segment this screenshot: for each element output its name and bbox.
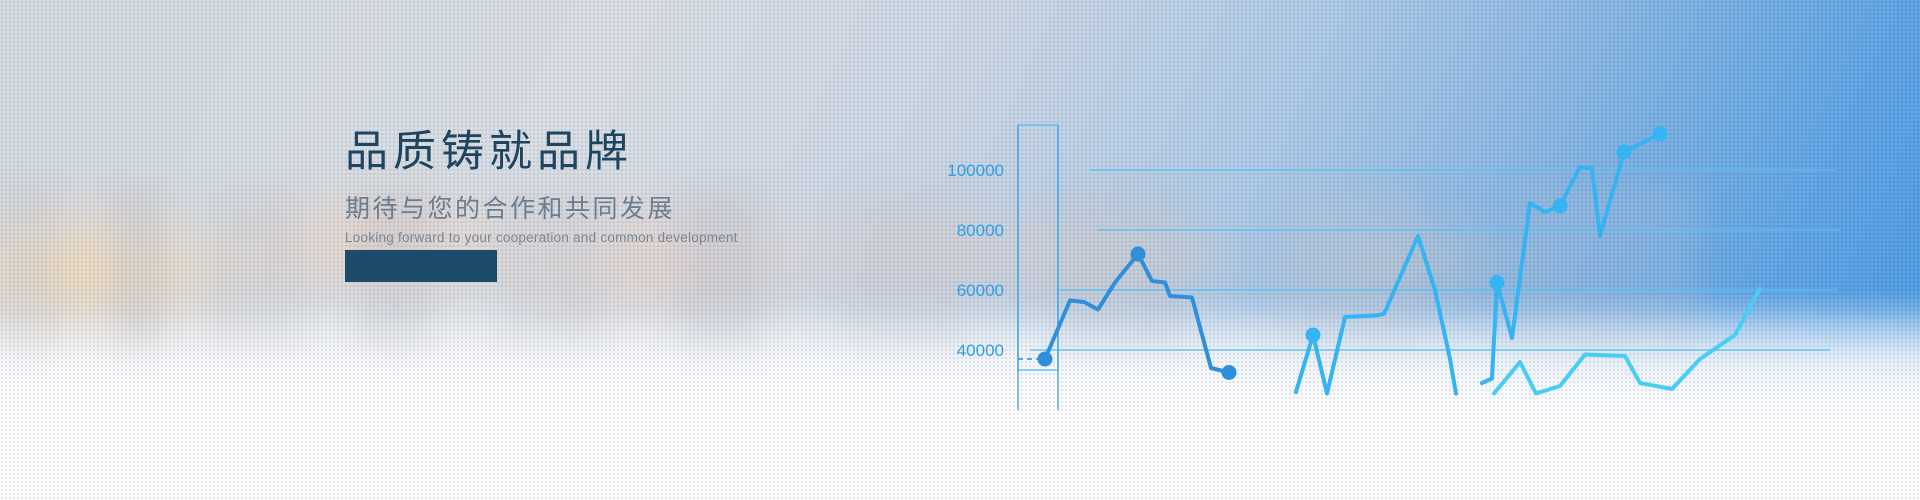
- page-tagline: Looking forward to your cooperation and …: [345, 230, 865, 247]
- page-title: 品质铸就品牌: [345, 128, 865, 176]
- chart-series: [1045, 134, 1760, 394]
- svg-text:40000: 40000: [957, 341, 1004, 360]
- line-chart: 100000800006000040000: [0, 0, 1920, 500]
- svg-text:80000: 80000: [957, 221, 1004, 240]
- chart-axis: [1018, 125, 1058, 410]
- cta-button[interactable]: [345, 250, 497, 282]
- chart-gridlines: [1030, 170, 1840, 350]
- hero-copy: 品质铸就品牌 期待与您的合作和共同发展 Looking forward to y…: [345, 128, 865, 247]
- svg-text:100000: 100000: [947, 161, 1004, 180]
- chart-data-markers: [1038, 127, 1668, 381]
- hero-banner: 100000800006000040000 品质铸就品牌 期待与您的合作和共同发…: [0, 0, 1920, 500]
- chart-y-axis-labels: 100000800006000040000: [947, 161, 1004, 360]
- page-subtitle: 期待与您的合作和共同发展: [345, 194, 865, 224]
- svg-text:60000: 60000: [957, 281, 1004, 300]
